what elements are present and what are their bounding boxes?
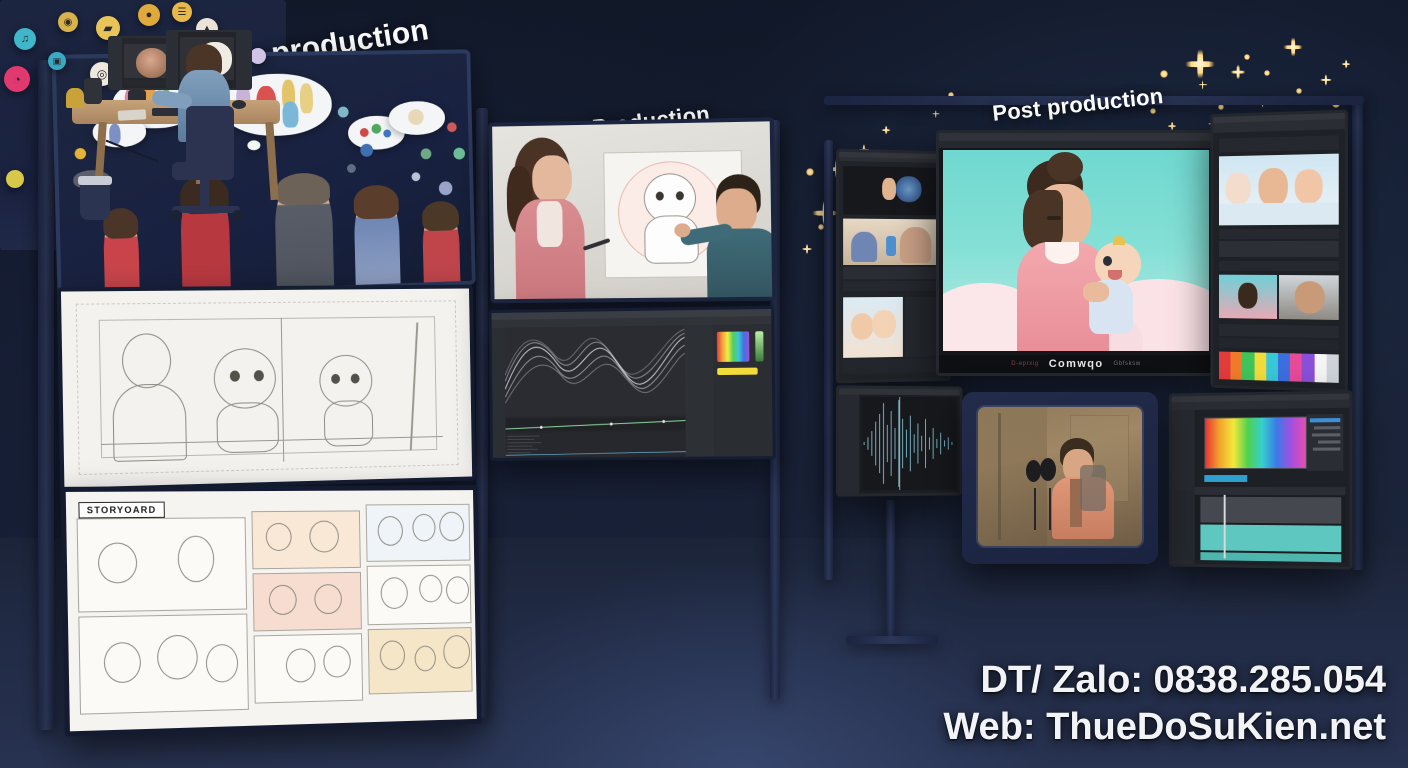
color-swatch[interactable] <box>1302 354 1314 383</box>
microphone-icon[interactable]: ☰ <box>172 2 192 22</box>
chair-caster <box>170 210 182 222</box>
storyboard-sketch-figure <box>309 520 339 552</box>
sparkle-star-icon <box>1196 78 1209 91</box>
rig-post-post-r <box>1352 100 1363 570</box>
review-woman-collar <box>537 201 563 247</box>
idea-orb <box>75 148 87 159</box>
microphone <box>1026 460 1041 482</box>
idea-orb <box>439 181 453 195</box>
thought-bubble-3-tail <box>247 140 260 150</box>
color-swatch[interactable] <box>1266 353 1278 381</box>
grade-timeline[interactable] <box>1195 487 1346 562</box>
sparkle-star-icon <box>930 108 941 119</box>
monitor-preview-stack[interactable] <box>836 149 951 384</box>
sparkle-star-icon <box>1180 44 1220 84</box>
color-swatch[interactable] <box>1278 353 1290 381</box>
sketch-baby-1-eye <box>230 370 240 381</box>
curve-graph-canvas[interactable] <box>505 325 686 417</box>
bubble-character <box>300 83 314 113</box>
sparkle-star-icon <box>1280 34 1306 60</box>
ghost-icon[interactable]: ◔ <box>4 66 30 92</box>
curve-editor-properties <box>684 325 714 457</box>
monitor-main-render[interactable]: D-eprxig Comwqo Gbfsksw <box>936 130 1216 376</box>
storyboard-board[interactable]: STORYOARD <box>60 485 481 736</box>
color-swatch[interactable] <box>1242 352 1254 380</box>
character-hair <box>353 185 399 220</box>
color-swatch[interactable] <box>1326 354 1338 383</box>
camera-icon[interactable]: ● <box>138 4 160 26</box>
voice-over-booth[interactable] <box>962 392 1158 564</box>
mic-stand <box>1049 488 1052 530</box>
motion-curve-editor[interactable] <box>489 306 776 461</box>
spectrum-band <box>1218 418 1230 468</box>
review-woman-face <box>532 155 572 203</box>
monitor-brand-bar: D-eprxig Comwqo Gbfsksw <box>939 355 1213 373</box>
desk-mouse <box>232 100 246 109</box>
sparkle-dot-icon <box>1244 54 1250 60</box>
color-swatch[interactable] <box>1219 352 1231 380</box>
spectrum-band <box>1255 418 1268 468</box>
pop-filter <box>1040 458 1056 481</box>
idea-orb <box>453 148 465 160</box>
spectrum-band <box>1293 417 1306 467</box>
spectrum-band <box>1205 419 1217 469</box>
desk-lamp <box>84 78 102 104</box>
idea-orb <box>338 107 349 118</box>
monitor-color-grading[interactable] <box>1169 390 1353 569</box>
color-swatch[interactable] <box>1231 352 1243 380</box>
character-hair <box>276 172 330 205</box>
audio-waveform-canvas[interactable] <box>861 397 956 491</box>
color-spectrum-picker[interactable] <box>1204 416 1307 469</box>
rig-stand-pole <box>886 500 895 640</box>
monitor-compositing[interactable] <box>1210 110 1347 393</box>
sketch-baby-2-body <box>324 400 374 447</box>
idea-orb <box>411 172 420 181</box>
rig-post-post-l <box>824 140 833 580</box>
sparkle-dot-icon <box>1296 88 1302 94</box>
curve-timeline[interactable] <box>505 418 685 431</box>
contact-overlay: DT/ Zalo: 0838.285.054 Web: ThueDoSuKien… <box>943 657 1386 750</box>
storyboard-sketch-figure <box>266 523 292 551</box>
music-note-icon[interactable]: ♫ <box>14 28 36 50</box>
spectrum-band <box>1268 418 1281 468</box>
color-swatch-strip[interactable] <box>1219 352 1339 383</box>
sparkle-star-icon <box>880 124 892 136</box>
office-chair-base <box>172 206 240 213</box>
contact-phone: DT/ Zalo: 0838.285.054 <box>943 657 1386 703</box>
sparkle-dot-icon <box>1160 70 1168 78</box>
infographic-stage: Pre-production Production Post productio… <box>0 0 1408 768</box>
booth-window <box>976 405 1144 548</box>
spectrum-band <box>1280 418 1293 468</box>
curve-value-slider[interactable] <box>755 331 763 361</box>
contact-website: Web: ThueDoSuKien.net <box>943 704 1386 750</box>
character-hair <box>422 201 459 232</box>
sketch-mother-body <box>112 383 187 462</box>
storyboard-sketch-figure <box>439 512 464 542</box>
storyboard-sketch-figure <box>177 536 214 583</box>
idea-orb <box>360 144 373 157</box>
sparkle-dot-icon <box>1264 70 1270 76</box>
review-man-hand <box>674 223 690 237</box>
stage-title-post-production: Post production <box>991 83 1164 127</box>
sparkle-star-icon <box>1340 58 1352 70</box>
monitor-brand-right-mark: Gbfsksw <box>1114 361 1141 367</box>
color-swatch[interactable] <box>1290 353 1302 381</box>
spectrum-band <box>1230 418 1242 468</box>
sketch-baby-2-eye <box>331 374 340 384</box>
idea-orb <box>421 148 432 159</box>
app-pin-icon[interactable] <box>6 170 24 188</box>
bin-papers <box>78 176 112 185</box>
idea-orb <box>347 164 356 173</box>
sparkle-star-icon <box>800 242 814 256</box>
rig-stand-foot <box>846 636 938 644</box>
color-swatch[interactable] <box>1254 352 1266 380</box>
desk-figurine <box>66 88 84 108</box>
chair-caster <box>232 210 244 222</box>
speaker-icon[interactable]: ▣ <box>48 52 66 70</box>
sparkle-star-icon <box>1318 72 1334 88</box>
monitor-audio-waveform[interactable] <box>836 385 962 496</box>
sparkle-star-icon <box>1228 62 1248 82</box>
spectrum-band <box>1243 418 1256 468</box>
storyboard-sketch-figure <box>412 514 436 542</box>
sparkle-dot-icon <box>806 168 814 176</box>
storyboard-title-label: STORYOARD <box>78 502 164 519</box>
curve-color-picker[interactable] <box>717 331 750 362</box>
curve-selected-swatch <box>717 368 758 375</box>
rig-post-left <box>38 60 54 730</box>
monitor-brand-name: Comwqo <box>1049 358 1104 370</box>
sketch-baby-2-eye <box>351 374 360 384</box>
storyboard-sketch-figure <box>377 516 403 546</box>
sketch-baby-1-eye <box>254 370 264 381</box>
film-reel-icon[interactable]: ◉ <box>58 12 78 32</box>
color-swatch[interactable] <box>1314 354 1326 383</box>
curve-dopesheet <box>506 432 686 458</box>
review-sketch-eye <box>656 192 664 201</box>
sketch-baby-1-body <box>216 402 279 453</box>
desk-tablet <box>118 109 146 120</box>
waste-bin <box>80 180 110 220</box>
review-sketch-eye <box>676 191 684 200</box>
sketch-board[interactable] <box>57 285 476 492</box>
idea-orb <box>447 122 457 132</box>
bubble-character <box>282 101 298 127</box>
app-pin-icon[interactable] <box>250 48 266 64</box>
character-review-board[interactable] <box>488 117 776 303</box>
mic-stand <box>1034 488 1037 530</box>
monitor-brand-left-mark: D-eprxig <box>1011 361 1038 367</box>
